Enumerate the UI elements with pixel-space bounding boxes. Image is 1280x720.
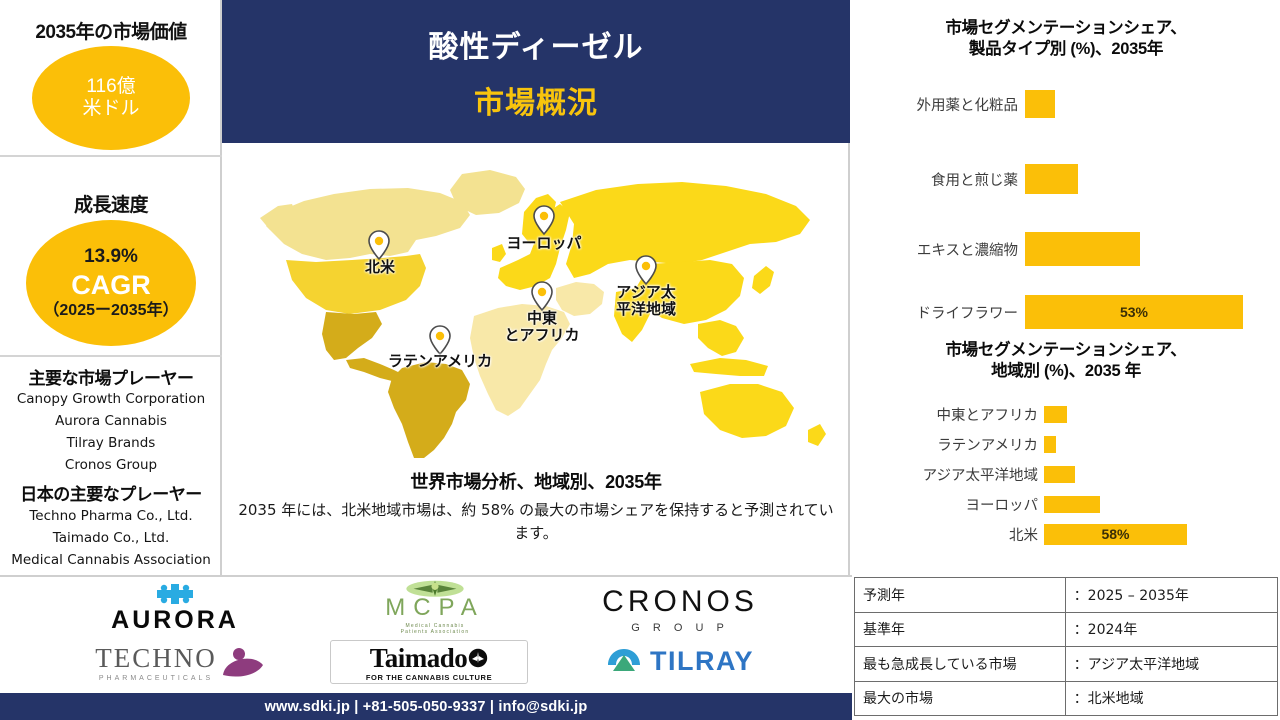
growth-rate-value: 13.9% xyxy=(84,246,138,268)
world-map: 北米 ヨーロッパ アジア太 平洋地域 中東 とアフリカ ラテンアメリカ xyxy=(230,168,842,458)
partner-logos-panel: AURORA MCPA Medical Cannabis Patients As… xyxy=(0,575,852,693)
map-pin-latin-america xyxy=(429,325,451,355)
bar xyxy=(1044,466,1075,483)
footer-contact-bar: www.sdki.jp | +81-505-050-9337 | info@sd… xyxy=(0,693,852,720)
chart-bar-row: アジア太平洋地域 xyxy=(852,462,1280,486)
bar xyxy=(1025,90,1055,118)
chart-bar-row: 北米 58% xyxy=(852,521,1280,547)
map-region-japan xyxy=(752,266,774,294)
bar-label: ドライフラワー xyxy=(852,302,1018,323)
table-cell-value: ：2025 – 2035年 xyxy=(1065,578,1277,613)
map-region-indonesia xyxy=(690,358,768,376)
growth-rate-oval: 13.9% CAGR （2025ー2035年） xyxy=(26,220,196,346)
growth-rate-period: （2025ー2035年） xyxy=(43,302,178,320)
list-item: Aurora Cannabis xyxy=(0,411,222,433)
chart-product-type: 市場セグメンテーションシェア、 製品タイプ別 (%)、2035年 外用薬と化粧品… xyxy=(852,18,1280,328)
page-subtitle: 市場概況 xyxy=(474,78,598,122)
world-map-panel: 北米 ヨーロッパ アジア太 平洋地域 中東 とアフリカ ラテンアメリカ xyxy=(222,143,850,575)
logo-techno: TECHNO PHARMACEUTICALS xyxy=(60,639,300,685)
chart-bar-row: 中東とアフリカ xyxy=(852,402,1280,426)
market-value-amount: 116億 xyxy=(86,76,135,98)
key-players-list: Canopy Growth Corporation Aurora Cannabi… xyxy=(0,389,222,476)
list-item: Medical Cannabis Association xyxy=(0,550,222,572)
list-item: Canopy Growth Corporation xyxy=(0,389,222,411)
chart-title-line-2: 地域別 (%)、2035 年 xyxy=(858,361,1274,382)
map-region-mexico xyxy=(322,312,382,360)
logo-cronos: CRONOS G R O U P xyxy=(570,585,790,633)
map-pin-north-america xyxy=(368,230,390,260)
summary-table: 予測年 ：2025 – 2035年 基準年 ：2024年 最も急成長している市場… xyxy=(852,577,1280,720)
bar xyxy=(1025,232,1140,266)
bar-label: アジア太平洋地域 xyxy=(852,464,1038,485)
market-value-title: 2035年の市場価値 xyxy=(0,17,222,44)
bar: 53% xyxy=(1025,295,1243,329)
chart-title-line-1: 市場セグメンテーションシェア、 xyxy=(858,18,1274,39)
logo-taimado-text: Taimado xyxy=(370,643,468,674)
taimado-leaf-icon xyxy=(468,648,488,668)
table-row: 基準年 ：2024年 xyxy=(855,612,1278,647)
chart-bar-row: ヨーロッパ xyxy=(852,492,1280,516)
list-item: Tilray Brands xyxy=(0,433,222,455)
map-region-australia xyxy=(700,384,794,438)
logo-tilray-text: TILRAY xyxy=(650,646,754,677)
map-caption-title: 世界市場分析、地域別、2035年 xyxy=(222,468,850,494)
page-header: 酸性ディーゼル 市場概況 xyxy=(222,0,850,143)
key-players-title: 主要な市場プレーヤー xyxy=(0,364,222,389)
table-row: 予測年 ：2025 – 2035年 xyxy=(855,578,1278,613)
table-cell-key: 予測年 xyxy=(855,578,1066,613)
logo-techno-text: TECHNO xyxy=(95,643,217,674)
map-region-southeast-asia xyxy=(698,320,744,356)
table-cell-key: 最大の市場 xyxy=(855,681,1066,716)
market-value-block: 2035年の市場価値 116億 米ドル xyxy=(0,0,222,155)
chart-product-type-title: 市場セグメンテーションシェア、 製品タイプ別 (%)、2035年 xyxy=(858,18,1274,60)
bar xyxy=(1044,406,1067,423)
left-sidebar: 2035年の市場価値 116億 米ドル 成長速度 13.9% CAGR （202… xyxy=(0,0,222,575)
growth-rate-block: 成長速度 13.9% CAGR （2025ー2035年） xyxy=(0,157,222,355)
map-label-middle-east-africa: 中東 とアフリカ xyxy=(493,311,591,345)
table-row: 最大の市場 ：北米地域 xyxy=(855,681,1278,716)
bar-label: 中東とアフリカ xyxy=(852,404,1038,425)
map-label-asia-pacific: アジア太 平洋地域 xyxy=(599,285,693,319)
list-item: Taimado Co., Ltd. xyxy=(0,528,222,550)
techno-swirl-icon xyxy=(219,645,265,679)
logo-mcpa-text: MCPA xyxy=(385,594,485,622)
chart-bar-row: ラテンアメリカ xyxy=(852,432,1280,456)
logo-aurora-text: AURORA xyxy=(111,606,239,635)
market-value-oval: 116億 米ドル xyxy=(32,46,190,150)
bar-label: ヨーロッパ xyxy=(852,494,1038,515)
map-pin-middle-east-africa xyxy=(531,281,553,311)
tilray-mountain-icon xyxy=(606,647,642,675)
charts-sidebar: 市場セグメンテーションシェア、 製品タイプ別 (%)、2035年 外用薬と化粧品… xyxy=(852,0,1280,575)
table-cell-value: ：2024年 xyxy=(1065,612,1277,647)
list-item: Techno Pharma Co., Ltd. xyxy=(0,506,222,528)
growth-rate-title: 成長速度 xyxy=(0,190,222,217)
table-cell-value: ：アジア太平洋地域 xyxy=(1065,647,1277,682)
logo-cronos-text: CRONOS xyxy=(602,585,758,619)
table-row: 最も急成長している市場 ：アジア太平洋地域 xyxy=(855,647,1278,682)
chart-bar-row: ドライフラワー 53% xyxy=(852,294,1280,330)
map-caption-body: 2035 年には、北米地域市場は、約 58% の最大の市場シェアを保持すると予測… xyxy=(236,499,836,546)
bar-value: 58% xyxy=(1101,526,1129,542)
map-region-new-zealand xyxy=(808,424,826,446)
map-pin-europe xyxy=(533,205,555,235)
table-cell-value: ：北米地域 xyxy=(1065,681,1277,716)
bar xyxy=(1044,496,1100,513)
growth-rate-cagr-label: CAGR xyxy=(71,271,151,299)
page-title: 酸性ディーゼル xyxy=(429,22,644,66)
bar: 58% xyxy=(1044,524,1187,545)
map-region-south-america xyxy=(388,362,470,458)
jp-players-title: 日本の主要なプレーヤー xyxy=(0,480,222,505)
bar xyxy=(1044,436,1056,453)
logo-taimado-sub: FOR THE CANNABIS CULTURE xyxy=(366,673,492,682)
jp-players-list: Techno Pharma Co., Ltd. Taimado Co., Ltd… xyxy=(0,506,222,572)
bar-label: 北米 xyxy=(852,524,1038,545)
map-label-latin-america: ラテンアメリカ xyxy=(361,354,519,371)
infographic-page: 2035年の市場価値 116億 米ドル 成長速度 13.9% CAGR （202… xyxy=(0,0,1280,720)
bar-value: 53% xyxy=(1120,304,1148,320)
bar-label: エキスと濃縮物 xyxy=(852,239,1018,260)
map-pin-asia-pacific xyxy=(635,255,657,285)
logo-aurora: AURORA xyxy=(60,583,290,635)
logo-techno-sub: PHARMACEUTICALS xyxy=(99,675,213,682)
aurora-cross-icon xyxy=(153,583,197,605)
bar-label: 食用と煎じ薬 xyxy=(852,169,1018,190)
logo-mcpa-sub: Medical Cannabis Patients Association xyxy=(401,623,470,637)
chart-bar-row: 外用薬と化粧品 xyxy=(852,88,1280,120)
bar-label: 外用薬と化粧品 xyxy=(852,94,1018,115)
chart-bar-row: エキスと濃縮物 xyxy=(852,231,1280,267)
market-value-unit: 米ドル xyxy=(82,98,139,120)
bar-label: ラテンアメリカ xyxy=(852,434,1038,455)
list-item: Cronos Group xyxy=(0,455,222,477)
chart-region-title: 市場セグメンテーションシェア、 地域別 (%)、2035 年 xyxy=(858,340,1274,382)
logo-tilray: TILRAY xyxy=(570,641,790,681)
map-label-north-america: 北米 xyxy=(352,260,408,277)
logo-mcpa: MCPA Medical Cannabis Patients Associati… xyxy=(330,580,540,636)
footer-text[interactable]: www.sdki.jp | +81-505-050-9337 | info@sd… xyxy=(265,699,588,715)
map-label-europe: ヨーロッパ xyxy=(488,236,600,253)
logo-cronos-sub: G R O U P xyxy=(631,622,729,634)
chart-region: 市場セグメンテーションシェア、 地域別 (%)、2035 年 中東とアフリカ ラ… xyxy=(852,340,1280,570)
logo-taimado: Taimado FOR THE CANNABIS CULTURE xyxy=(330,640,528,684)
bar xyxy=(1025,164,1078,194)
chart-title-line-2: 製品タイプ別 (%)、2035年 xyxy=(858,39,1274,60)
players-block: 主要な市場プレーヤー Canopy Growth Corporation Aur… xyxy=(0,357,222,573)
chart-bar-row: 食用と煎じ薬 xyxy=(852,163,1280,195)
chart-title-line-1: 市場セグメンテーションシェア、 xyxy=(858,340,1274,361)
table-cell-key: 基準年 xyxy=(855,612,1066,647)
table-cell-key: 最も急成長している市場 xyxy=(855,647,1066,682)
